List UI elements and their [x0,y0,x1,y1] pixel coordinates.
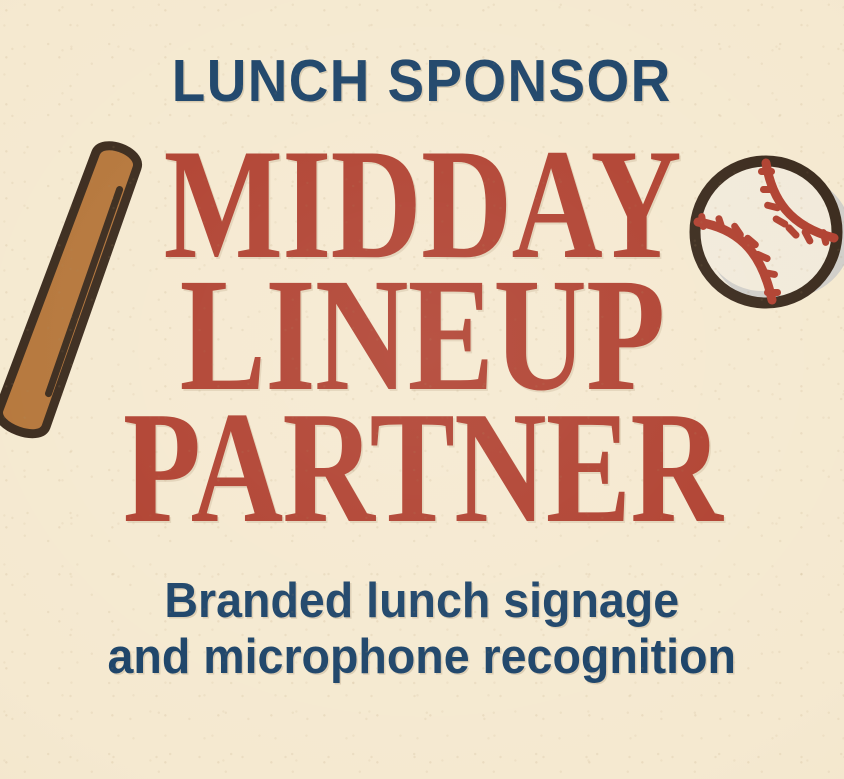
subtitle: Branded lunch signage and microphone rec… [108,574,736,686]
subtitle-line-2: and microphone recognition [108,630,736,686]
subtitle-line-1: Branded lunch signage [108,574,736,630]
poster-content: LUNCH SPONSOR MIDDAY LINEUP PARTNER Bran… [0,0,844,779]
eyebrow-label: LUNCH SPONSOR [172,52,672,111]
lunch-sponsor-poster: LUNCH SPONSOR MIDDAY LINEUP PARTNER Bran… [0,0,844,779]
page-title: MIDDAY LINEUP PARTNER [0,141,844,532]
headline-line-3: PARTNER [122,402,721,532]
